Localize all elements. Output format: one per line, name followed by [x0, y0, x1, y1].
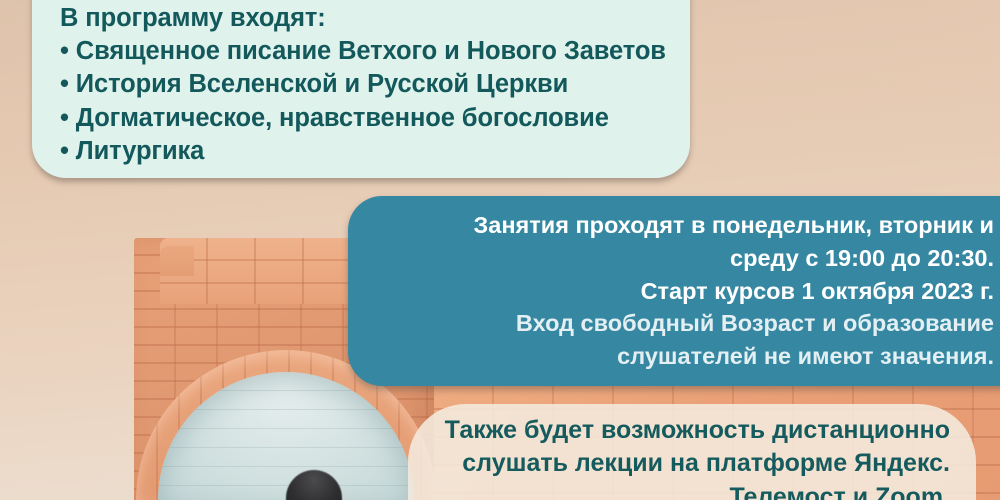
remote-access-card: Также будет возможность дистанционно слу… — [408, 404, 976, 500]
program-item-theology: • Догматическое, нравственное богословие — [60, 102, 664, 135]
program-item-scripture: • Священное писание Ветхого и Нового Зав… — [60, 35, 664, 68]
schedule-days-line: Занятия проходят в понедельник, вторник … — [378, 209, 994, 242]
schedule-admission-line: Вход свободный Возраст и образование — [378, 307, 994, 340]
schedule-requirements-line: слушателей не имеют значения. — [378, 340, 994, 373]
schedule-start-date-line: Старт курсов 1 октября 2023 г. — [378, 275, 994, 308]
program-item-liturgics: • Литургика — [60, 135, 664, 168]
remote-line-services: Телемост и Zoom. — [438, 481, 950, 500]
remote-line-availability: Также будет возможность дистанционно — [438, 414, 950, 447]
brick-coping-step — [160, 246, 194, 276]
schedule-time-line: среду с 19:00 до 20:30. — [378, 242, 994, 275]
poster-canvas: В программу входят: • Священное писание … — [0, 0, 1000, 500]
program-card: В программу входят: • Священное писание … — [32, 0, 690, 178]
program-heading: В программу входят: — [60, 2, 664, 35]
schedule-card: Занятия проходят в понедельник, вторник … — [348, 196, 1000, 386]
program-item-church-history: • История Вселенской и Русской Церкви — [60, 68, 664, 101]
remote-line-platform: слушать лекции на платформе Яндекс. — [438, 447, 950, 480]
